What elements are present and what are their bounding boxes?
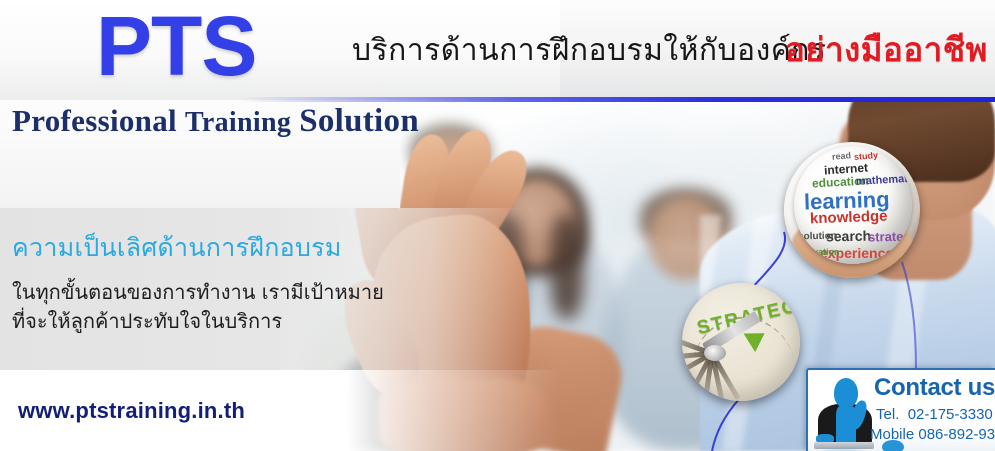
header-tagline-thai: บริการด้านการฝึกอบรมให้กับองค์กร <box>352 27 827 74</box>
company-tagline: Professional Training Solution <box>12 103 419 140</box>
word-cloud-term: innovation <box>794 248 840 257</box>
word-cloud-term: study <box>854 151 879 162</box>
lead-body-line-2: ที่จะให้ลูกค้าประทับใจในบริการ <box>12 307 384 336</box>
word-cloud-term: solution <box>798 232 837 243</box>
agent-desk <box>814 442 874 449</box>
compass-face: STRATEGY <box>682 283 800 401</box>
contact-us-box[interactable]: Contact us Tel. 02-175-3330 Mobile 086-8… <box>806 368 995 451</box>
contact-telephone[interactable]: Tel. 02-175-3330 <box>876 406 993 423</box>
pts-wordmark: PTS <box>96 4 256 88</box>
header-blue-rule <box>0 97 995 102</box>
lead-body-line-1: ในทุกขั้นตอนของการทำงาน เรามีเป้าหมาย <box>12 278 384 307</box>
word-cloud-callout: learningknowledgesearchstrategysolutione… <box>784 142 920 278</box>
lead-headline: ความเป็นเลิศด้านการฝึกอบรม <box>12 228 342 268</box>
call-agent-icon <box>812 376 876 451</box>
telephone-number: 02-175-3330 <box>908 406 993 423</box>
word-cloud-term: knowledge <box>810 209 888 227</box>
header-tagline-thai-emphasis: อย่างมืออาชีพ <box>785 23 988 76</box>
contact-mobile[interactable]: Mobile 086-892-9330 <box>870 426 995 443</box>
word-cloud-term: read <box>832 151 852 162</box>
telephone-label: Tel. <box>876 406 899 423</box>
word-cloud-term: mathematics <box>856 173 912 188</box>
word-cloud-sphere: learningknowledgesearchstrategysolutione… <box>794 146 912 264</box>
strategy-compass-callout: STRATEGY <box>682 283 800 401</box>
contact-us-title: Contact us <box>874 374 995 402</box>
mobile-label: Mobile <box>870 426 914 443</box>
word-cloud-term: knowledge <box>860 262 912 264</box>
tagline-word-training: Training <box>185 107 291 138</box>
tagline-word-solution: Solution <box>299 103 419 139</box>
agent-head <box>834 378 858 408</box>
tagline-word-professional: Professional <box>12 103 177 138</box>
website-url[interactable]: www.ptstraining.in.th <box>18 398 245 424</box>
word-cloud-term: internet <box>824 161 869 176</box>
lead-body: ในทุกขั้นตอนของการทำงาน เรามีเป้าหมาย ที… <box>12 278 384 336</box>
pts-training-banner: PTS บริการด้านการฝึกอบรมให้กับองค์กร อย่… <box>0 0 995 451</box>
compass-needle-hub <box>704 345 726 361</box>
mobile-number: 086-892-9330 <box>918 426 995 443</box>
word-cloud-term: strategy <box>868 230 912 244</box>
word-cloud-photo: learningknowledgesearchstrategysolutione… <box>784 142 920 278</box>
